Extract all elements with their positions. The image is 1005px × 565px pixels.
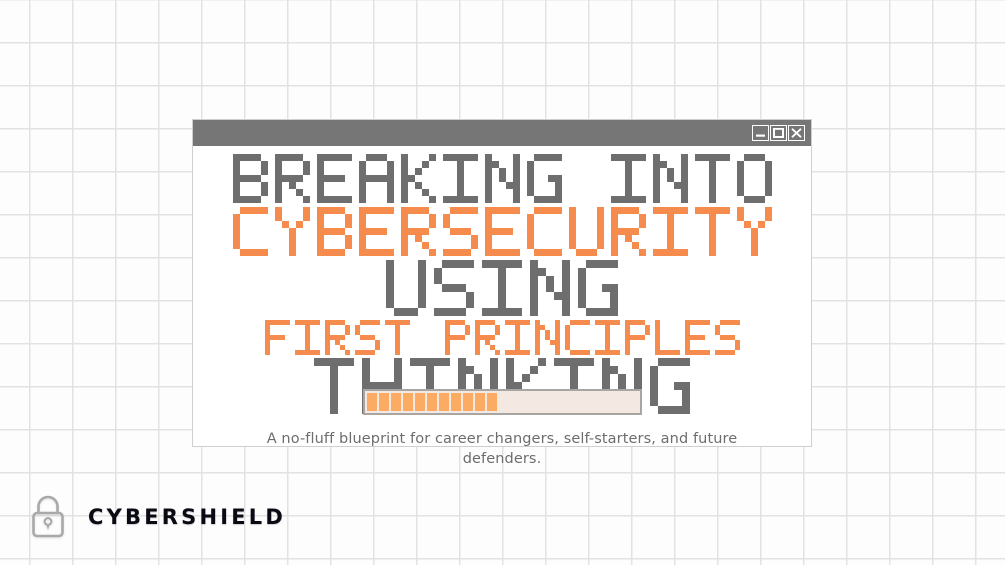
close-button[interactable] xyxy=(788,125,805,141)
progress-segment xyxy=(427,393,437,411)
maximize-icon xyxy=(773,128,784,138)
subtitle-text: A no-fluff blueprint for career changers… xyxy=(257,430,747,469)
progress-segment xyxy=(475,393,485,411)
window-titlebar xyxy=(193,120,811,146)
progress-bar[interactable] xyxy=(363,389,642,415)
progress-segment xyxy=(463,393,473,411)
headline-line-3 xyxy=(203,260,801,316)
progress-segment xyxy=(439,393,449,411)
slide-canvas: A no-fluff blueprint for career changers… xyxy=(0,0,1005,565)
headline-line-2 xyxy=(203,207,801,256)
headline-line-4 xyxy=(203,320,801,355)
maximize-button[interactable] xyxy=(770,125,787,141)
progress-segment xyxy=(367,393,377,411)
minimize-icon xyxy=(755,128,766,138)
retro-window-panel: A no-fluff blueprint for career changers… xyxy=(192,119,812,447)
brand-lockup: CYBERSHIELD xyxy=(26,492,286,542)
headline-block xyxy=(193,154,811,414)
minimize-button[interactable] xyxy=(752,125,769,141)
headline-line-1 xyxy=(203,154,801,203)
window-controls xyxy=(751,125,805,141)
padlock-icon xyxy=(26,492,70,542)
progress-segment xyxy=(379,393,389,411)
progress-segment xyxy=(391,393,401,411)
window-body: A no-fluff blueprint for career changers… xyxy=(193,146,811,446)
brand-name-text: CYBERSHIELD xyxy=(88,505,286,529)
progress-segment xyxy=(451,393,461,411)
close-icon xyxy=(791,128,802,138)
progress-fill xyxy=(367,393,497,411)
progress-segment xyxy=(415,393,425,411)
progress-track xyxy=(363,389,642,415)
progress-segment xyxy=(403,393,413,411)
progress-segment xyxy=(487,393,497,411)
